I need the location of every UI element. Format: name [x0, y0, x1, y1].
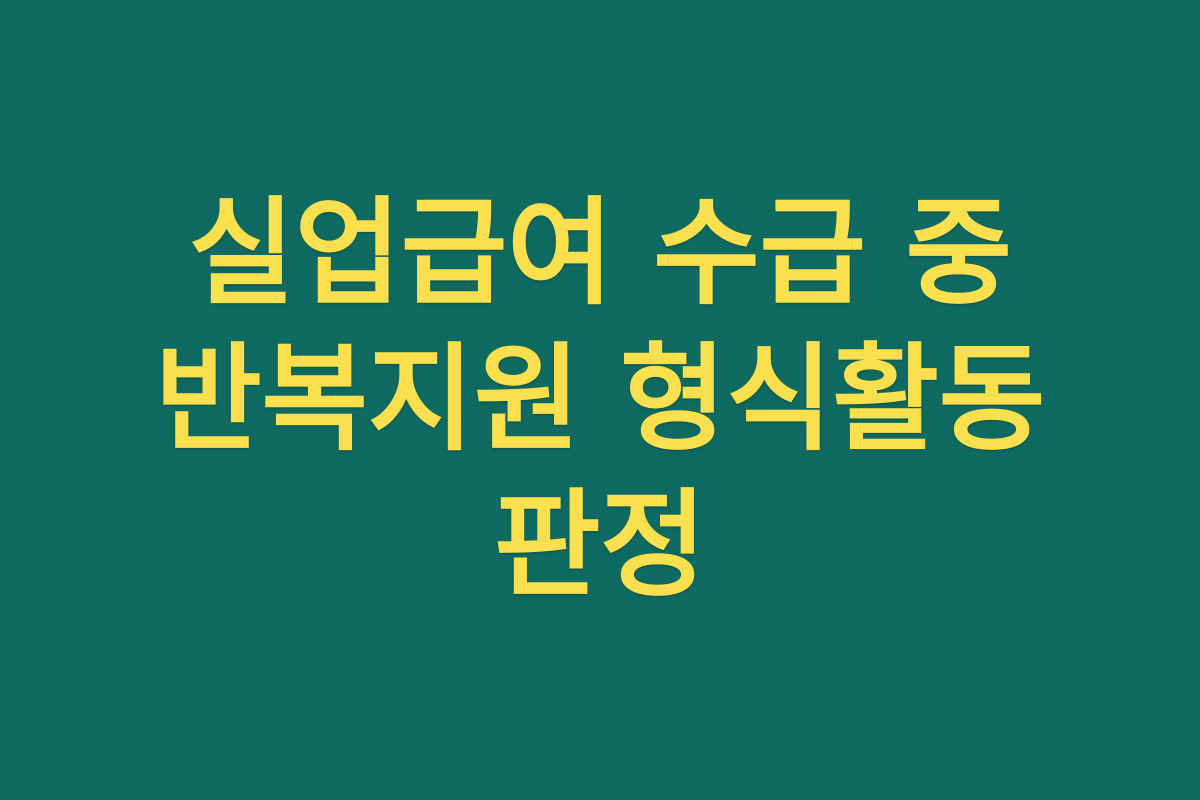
banner-headline: 실업급여 수급 중 반복지원 형식활동 판정: [80, 181, 1120, 619]
text-banner: 실업급여 수급 중 반복지원 형식활동 판정: [0, 0, 1200, 800]
banner-content-wrapper: 실업급여 수급 중 반복지원 형식활동 판정: [70, 181, 1130, 619]
